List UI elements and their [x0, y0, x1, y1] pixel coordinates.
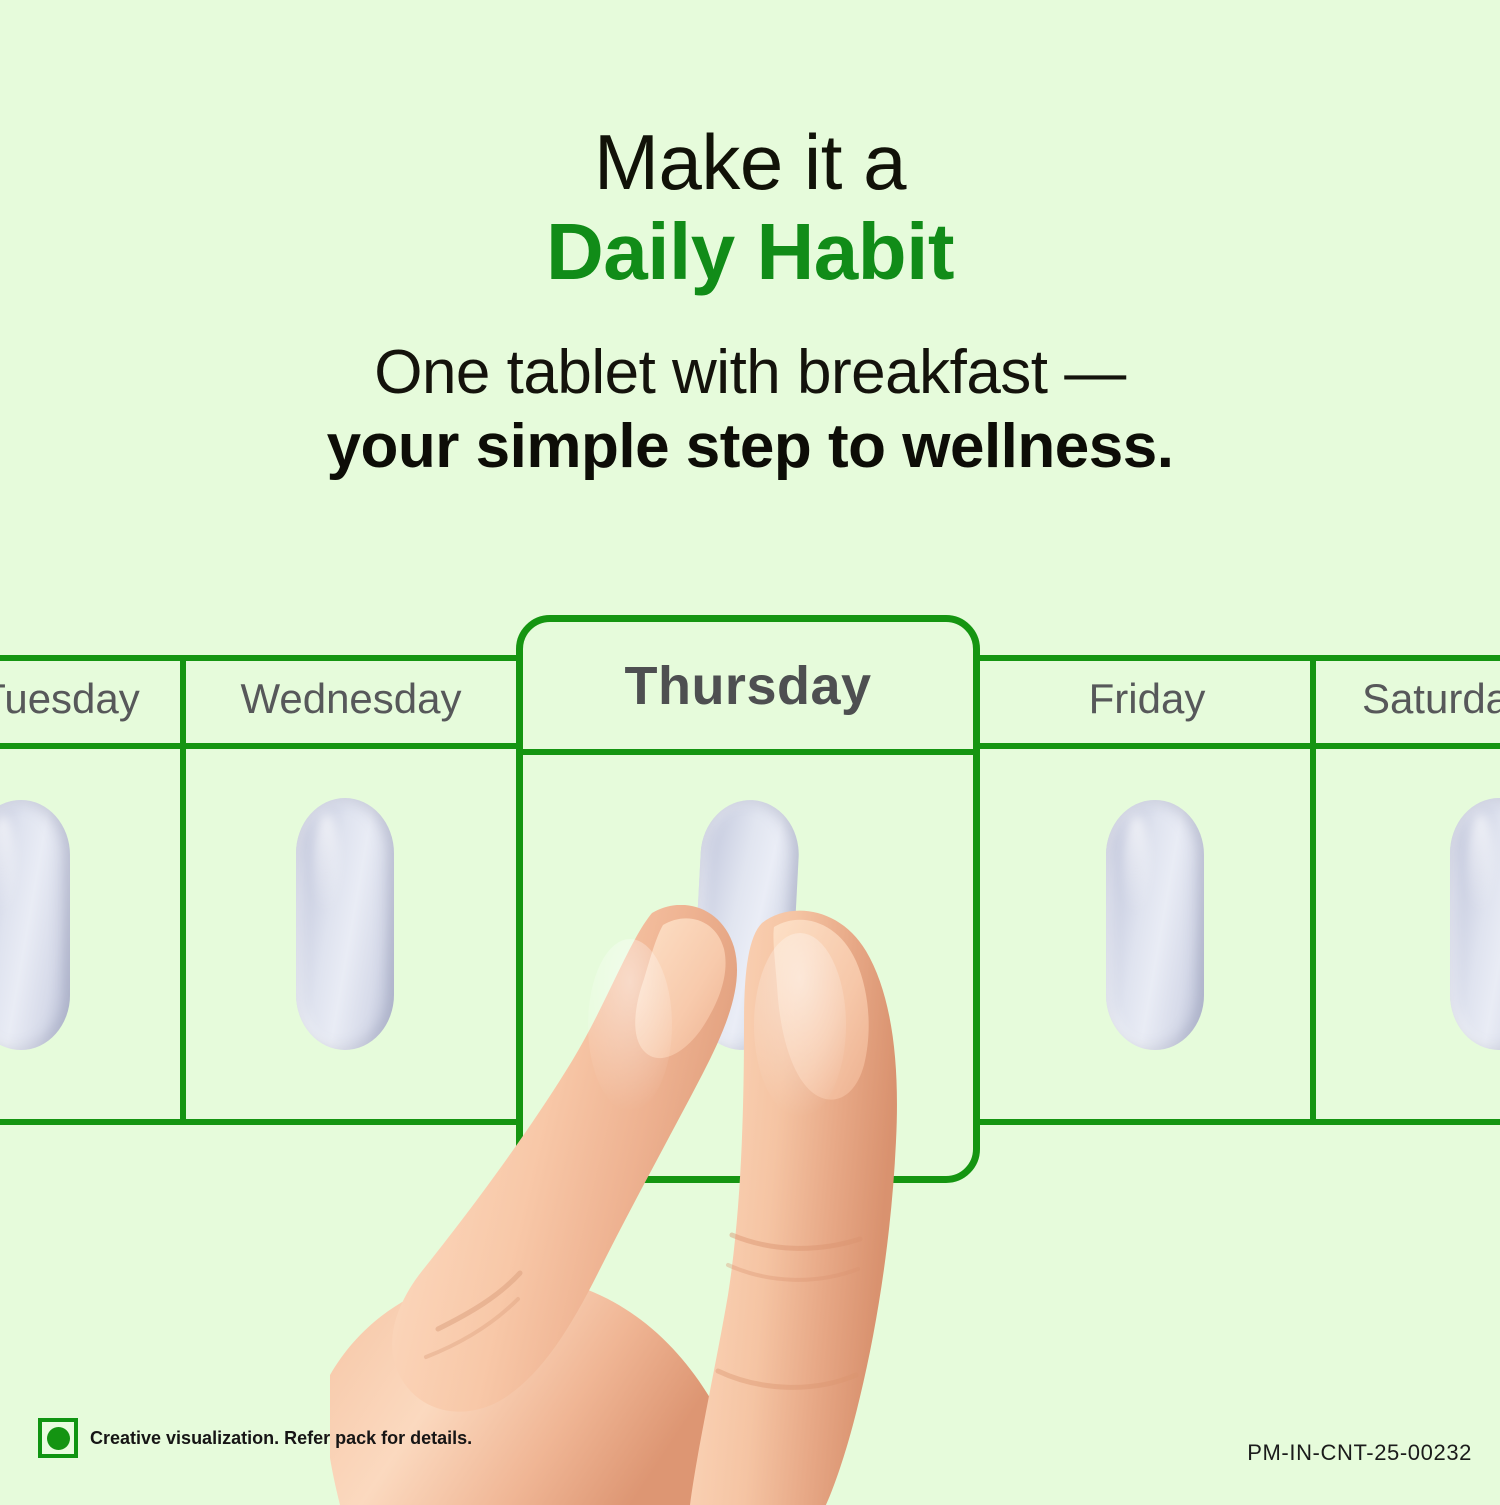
day-header-saturday[interactable]: Saturday — [1316, 655, 1500, 743]
subhead-block: One tablet with breakfast — your simple … — [0, 336, 1500, 484]
vegetarian-mark-icon — [38, 1418, 78, 1458]
grid-line-body-bottom-right — [978, 1119, 1500, 1125]
headline-line-2: Daily Habit — [0, 206, 1500, 298]
thumb-crease-2 — [728, 1265, 858, 1280]
day-label-wednesday: Wednesday — [240, 675, 461, 723]
day-header-tuesday[interactable]: Tuesday — [0, 655, 180, 743]
approval-code: PM-IN-CNT-25-00232 — [1247, 1440, 1472, 1466]
today-card-inner-divider — [522, 749, 974, 755]
headline-line-1: Make it a — [0, 118, 1500, 206]
grid-line-header-bottom-left — [0, 743, 516, 749]
day-label-friday: Friday — [1089, 675, 1206, 723]
day-header-wednesday[interactable]: Wednesday — [186, 655, 516, 743]
vegetarian-mark-dot — [47, 1427, 70, 1450]
grid-line-header-bottom-right — [978, 743, 1500, 749]
thumb-crease-1 — [732, 1235, 860, 1248]
day-label-saturday: Saturday — [1362, 675, 1500, 723]
index-finger-crease — [438, 1273, 520, 1329]
day-header-friday[interactable]: Friday — [984, 655, 1310, 743]
disclaimer-text: Creative visualization. Refer pack for d… — [90, 1428, 472, 1449]
tablet-thursday-held — [691, 798, 802, 1053]
subhead-line-2: your simple step to wellness. — [0, 410, 1500, 484]
headline-block: Make it a Daily Habit — [0, 118, 1500, 298]
day-label-tuesday: Tuesday — [0, 675, 140, 723]
subhead-line-1: One tablet with breakfast — — [0, 336, 1500, 410]
grid-line-body-bottom-left — [0, 1119, 516, 1125]
index-finger-crease-2 — [426, 1299, 518, 1357]
hand-palm-back — [330, 1273, 760, 1505]
day-label-thursday: Thursday — [523, 622, 973, 749]
thumb-crease-3 — [718, 1371, 856, 1387]
